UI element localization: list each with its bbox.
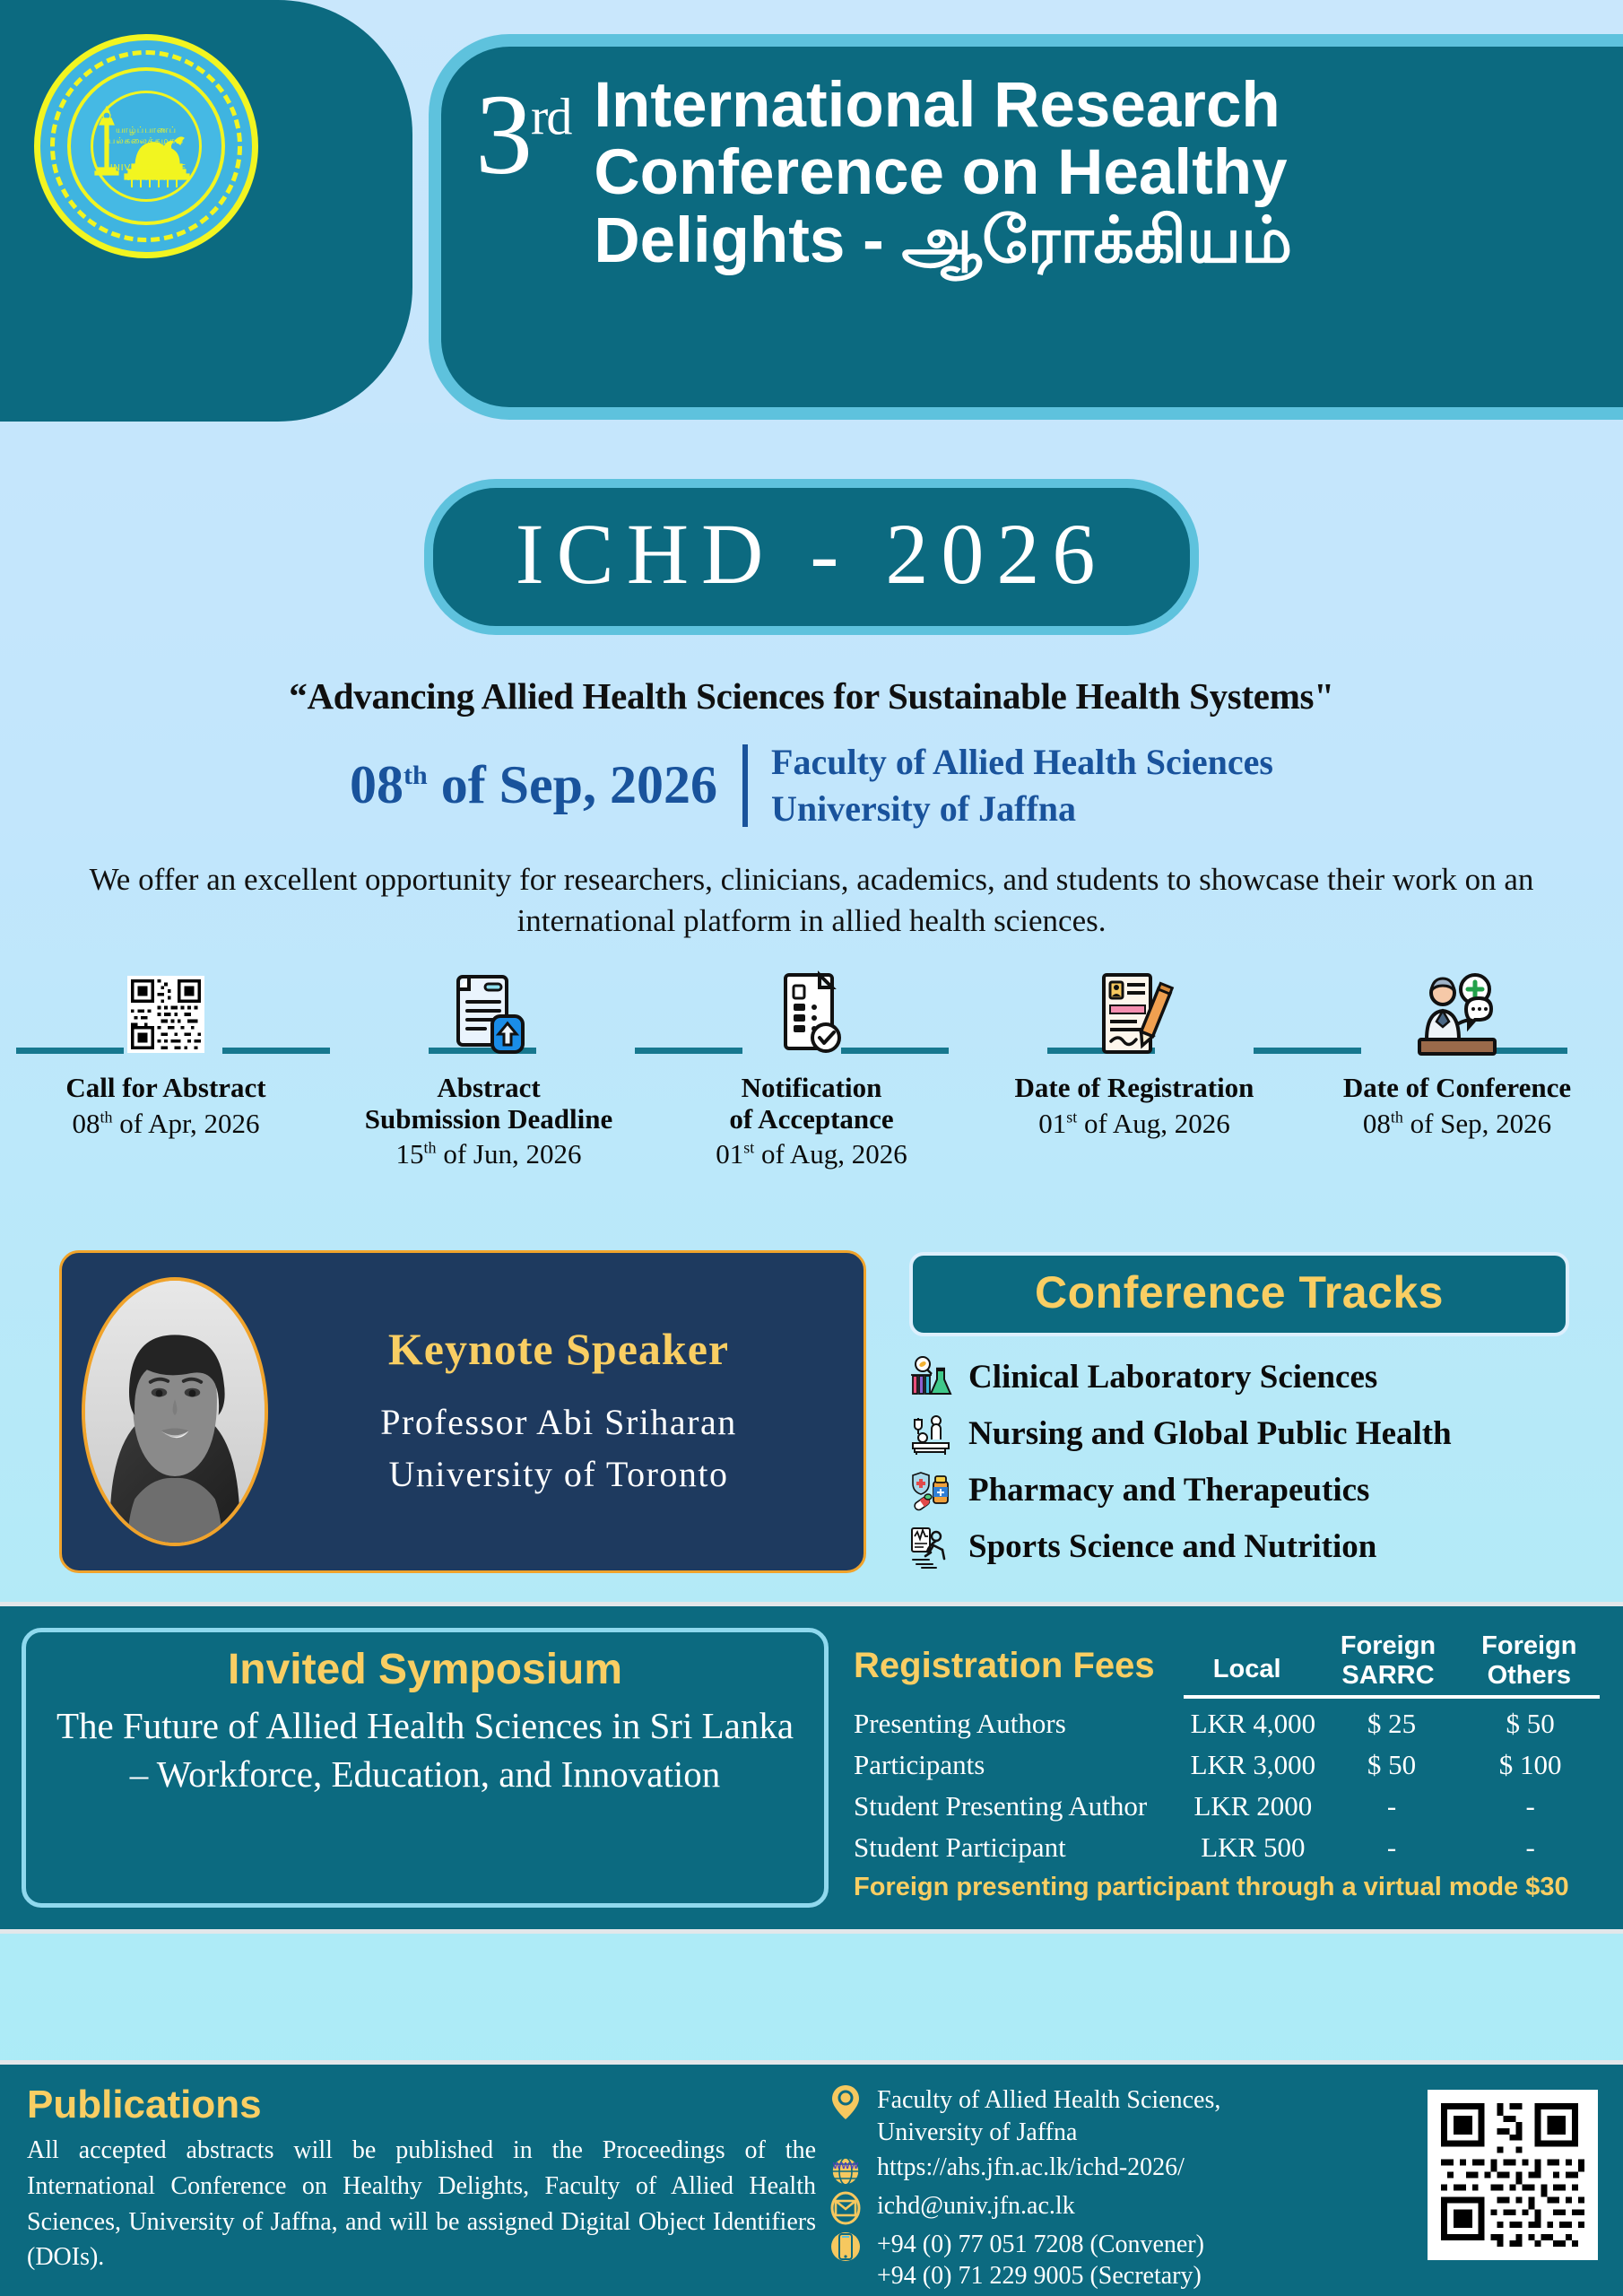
important-dates-timeline: Call for Abstract 08th of Apr, 2026	[0, 965, 1623, 1234]
university-of-jaffna-logo-icon: யாழ்ப்பாணப் பல்கலைக்கழகம்	[34, 34, 258, 258]
timeline-label: Date of Conference	[1300, 1073, 1614, 1104]
contact-phone-convener: +94 (0) 77 051 7208 (Convener)	[877, 2229, 1204, 2261]
title-line-1: International Research	[594, 72, 1292, 139]
contact-email-text[interactable]: ichd@univ.jfn.ac.lk	[877, 2190, 1075, 2222]
timeline-date-rest: of Apr, 2026	[112, 1108, 259, 1139]
keynote-speaker-photo	[82, 1277, 268, 1546]
date-venue-row: 08th of Sep, 2026 Faculty of Allied Heal…	[0, 739, 1623, 832]
conference-tracks-heading: Conference Tracks	[909, 1252, 1569, 1336]
fee-local: LKR 2000	[1184, 1790, 1323, 1822]
timeline-date-day: 15	[396, 1138, 424, 1170]
timeline-date-sup: th	[100, 1108, 112, 1126]
timeline-item-conference-date: Date of Conference 08th of Sep, 2026	[1300, 965, 1614, 1170]
keynote-speaker-card: Keynote Speaker Professor Abi Sriharan U…	[59, 1250, 866, 1573]
timeline-date: 08th of Apr, 2026	[9, 1108, 323, 1140]
track-item: Sports Science and Nutrition	[909, 1526, 1569, 1569]
timeline-date-sup: st	[1066, 1108, 1077, 1126]
conference-poster: யாழ்ப்பாணப் பல்கலைக்கழகம்	[0, 0, 1623, 2296]
fees-column-foreign-others: Foreign Others	[1459, 1631, 1600, 1692]
invited-symposium-card: Invited Symposium The Future of Allied H…	[22, 1628, 829, 1908]
contact-address-row: Faculty of Allied Health Sciences, Unive…	[829, 2084, 1415, 2149]
conference-date-rest: of Sep, 2026	[428, 755, 717, 814]
timeline-label: Call for Abstract	[9, 1073, 323, 1104]
timeline-label-line1: Notification	[655, 1073, 968, 1104]
contact-website-row[interactable]: WWW https://ahs.jfn.ac.lk/ichd-2026/	[829, 2152, 1415, 2187]
fee-sarrc: $ 50	[1323, 1749, 1462, 1781]
contact-phone-row: +94 (0) 77 051 7208 (Convener) +94 (0) 7…	[829, 2229, 1415, 2293]
timeline-label: Abstract Submission Deadline	[332, 1073, 646, 1135]
timeline-date: 01st of Aug, 2026	[977, 1108, 1291, 1140]
footer-qr-code-icon[interactable]	[1428, 2090, 1598, 2260]
publications-section: Publications All accepted abstracts will…	[27, 2083, 816, 2287]
conference-tracks-section: Conference Tracks	[909, 1250, 1569, 1582]
fee-sarrc: -	[1323, 1831, 1462, 1864]
fees-column-local: Local	[1176, 1631, 1317, 1692]
invited-symposium-topic: The Future of Allied Health Sciences in …	[46, 1701, 804, 1798]
title-line-2: Conference on Healthy	[594, 139, 1292, 206]
table-row: Presenting Authors LKR 4,000 $ 25 $ 50	[854, 1708, 1600, 1740]
keynote-speaker-name: Professor Abi Sriharan	[277, 1396, 840, 1448]
timeline-date-day: 08	[1363, 1108, 1391, 1139]
poster-footer: Publications All accepted abstracts will…	[0, 2060, 1623, 2296]
conference-date-suffix: th	[404, 761, 428, 790]
conference-theme: “Advancing Allied Health Sciences for Su…	[0, 674, 1623, 717]
fee-sarrc: $ 25	[1323, 1708, 1462, 1740]
fee-row-label: Student Participant	[854, 1831, 1184, 1864]
table-row: Student Presenting Author LKR 2000 - -	[854, 1790, 1600, 1822]
contact-details: Faculty of Allied Health Sciences, Unive…	[829, 2083, 1415, 2287]
document-check-icon	[655, 965, 968, 1064]
timeline-date-sup: th	[1391, 1108, 1403, 1126]
track-label: Sports Science and Nutrition	[968, 1527, 1376, 1566]
registration-form-icon	[977, 965, 1291, 1064]
qr-code-icon[interactable]	[9, 965, 323, 1064]
timeline-label: Notification of Acceptance	[655, 1073, 968, 1135]
fee-row-label: Participants	[854, 1749, 1184, 1781]
speaker-presentation-icon	[1300, 965, 1614, 1064]
ichd-badge: ICHD - 2026	[424, 479, 1200, 635]
contact-website-text[interactable]: https://ahs.jfn.ac.lk/ichd-2026/	[877, 2152, 1185, 2184]
fee-others: -	[1461, 1790, 1600, 1822]
track-item: Clinical Laboratory Sciences	[909, 1356, 1569, 1399]
location-pin-icon	[829, 2084, 863, 2120]
timeline-item-registration: Date of Registration 01st of Aug, 2026	[977, 965, 1291, 1170]
registration-fees-table: Registration Fees Local Foreign SARRC Fo…	[845, 1628, 1600, 1908]
intro-paragraph: We offer an excellent opportunity for re…	[31, 859, 1592, 942]
conference-date-day: 08	[350, 755, 404, 814]
edition-ordinal: 3rd	[475, 77, 570, 192]
fee-local: LKR 500	[1184, 1831, 1323, 1864]
venue-faculty: Faculty of Allied Health Sciences	[771, 739, 1273, 786]
nursing-bed-icon	[909, 1413, 952, 1456]
fee-local: LKR 3,000	[1184, 1749, 1323, 1781]
contact-address-line2: University of Jaffna	[877, 2117, 1220, 2149]
contact-address-line1: Faculty of Allied Health Sciences,	[877, 2084, 1220, 2117]
track-label: Nursing and Global Public Health	[968, 1414, 1452, 1453]
invited-symposium-title: Invited Symposium	[46, 1645, 804, 1694]
table-row: Participants LKR 3,000 $ 50 $ 100	[854, 1749, 1600, 1781]
keynote-speaker-affiliation: University of Toronto	[277, 1448, 840, 1500]
timeline-date: 15th of Jun, 2026	[332, 1138, 646, 1170]
pharmacy-bottle-icon	[909, 1469, 952, 1512]
timeline-date-day: 08	[72, 1108, 100, 1139]
fee-others: $ 100	[1461, 1749, 1600, 1781]
timeline-date-sup: th	[424, 1139, 437, 1157]
speaker-and-tracks-section: Keynote Speaker Professor Abi Sriharan U…	[0, 1250, 1623, 1582]
fees-virtual-mode-note: Foreign presenting participant through a…	[854, 1873, 1600, 1902]
timeline-date-rest: of Sep, 2026	[1403, 1108, 1551, 1139]
conference-tracks-list: Clinical Laboratory Sciences	[909, 1356, 1569, 1569]
ichd-badge-text: ICHD - 2026	[516, 506, 1108, 603]
timeline-date-sup: st	[743, 1139, 754, 1157]
timeline-item-abstract-submission: Abstract Submission Deadline 15th of Jun…	[332, 965, 646, 1170]
venue-university: University of Jaffna	[771, 786, 1273, 832]
timeline-item-notification-acceptance: Notification of Acceptance 01st of Aug, …	[655, 965, 968, 1170]
table-row: Student Participant LKR 500 - -	[854, 1831, 1600, 1864]
timeline-date: 01st of Aug, 2026	[655, 1138, 968, 1170]
timeline-item-call-for-abstract: Call for Abstract 08th of Apr, 2026	[9, 965, 323, 1170]
timeline-date: 08th of Sep, 2026	[1300, 1108, 1614, 1140]
contact-phone-text: +94 (0) 77 051 7208 (Convener) +94 (0) 7…	[877, 2229, 1204, 2293]
fee-others: -	[1461, 1831, 1600, 1864]
timeline-date-rest: of Jun, 2026	[437, 1138, 582, 1170]
fee-row-label: Student Presenting Author	[854, 1790, 1184, 1822]
publications-body: All accepted abstracts will be published…	[27, 2133, 816, 2275]
fee-row-label: Presenting Authors	[854, 1708, 1184, 1740]
contact-email-row[interactable]: ichd@univ.jfn.ac.lk	[829, 2190, 1415, 2226]
fee-others: $ 50	[1461, 1708, 1600, 1740]
track-item: Nursing and Global Public Health	[909, 1413, 1569, 1456]
envelope-icon	[829, 2190, 863, 2226]
conference-date: 08th of Sep, 2026	[350, 754, 742, 816]
fee-local: LKR 4,000	[1184, 1708, 1323, 1740]
mobile-phone-icon	[829, 2229, 863, 2265]
svg-text:WWW: WWW	[833, 2161, 859, 2171]
timeline-date-rest: of Aug, 2026	[754, 1138, 907, 1170]
timeline-date-day: 01	[1038, 1108, 1066, 1139]
symposium-and-fees-band: Invited Symposium The Future of Allied H…	[0, 1602, 1623, 1934]
track-label: Pharmacy and Therapeutics	[968, 1471, 1369, 1509]
edition-suffix: rd	[531, 87, 570, 145]
venue: Faculty of Allied Health Sciences Univer…	[748, 739, 1273, 832]
fees-header-rule	[1184, 1695, 1600, 1699]
document-upload-icon	[332, 965, 646, 1064]
logo-bottom-text: UNIVERSITY OF JAFFNA	[93, 163, 199, 183]
timeline-date-day: 01	[716, 1138, 743, 1170]
keynote-speaker-heading: Keynote Speaker	[277, 1323, 840, 1375]
timeline-label-line2: Submission Deadline	[332, 1104, 646, 1135]
poster-header: யாழ்ப்பாணப் பல்கலைக்கழகம்	[0, 0, 1623, 423]
keynote-speaker-details: Professor Abi Sriharan University of Tor…	[277, 1396, 840, 1500]
laboratory-flask-icon	[909, 1356, 952, 1399]
contact-phone-secretary: +94 (0) 71 229 9005 (Secretary)	[877, 2260, 1204, 2292]
fees-column-foreign-sarrc: Foreign SARRC	[1317, 1631, 1458, 1692]
fee-sarrc: -	[1323, 1790, 1462, 1822]
conference-title: International Research Conference on Hea…	[594, 72, 1292, 274]
title-line-3: Delights - ஆரோக்கியம்	[594, 207, 1292, 274]
timeline-label: Date of Registration	[977, 1073, 1291, 1104]
timeline-date-rest: of Aug, 2026	[1077, 1108, 1230, 1139]
fees-column-headers: Local Foreign SARRC Foreign Others	[1176, 1631, 1600, 1692]
timeline-label-line2: of Acceptance	[655, 1104, 968, 1135]
sports-runner-icon	[909, 1526, 952, 1569]
acronym-badge-wrap: ICHD - 2026	[0, 479, 1623, 635]
timeline-label-line1: Abstract	[332, 1073, 646, 1104]
globe-www-icon: WWW	[829, 2152, 863, 2187]
track-item: Pharmacy and Therapeutics	[909, 1469, 1569, 1512]
contact-address-text: Faculty of Allied Health Sciences, Unive…	[877, 2084, 1220, 2149]
publications-title: Publications	[27, 2083, 816, 2127]
edition-number: 3	[475, 71, 531, 198]
track-label: Clinical Laboratory Sciences	[968, 1358, 1377, 1396]
registration-fees-title: Registration Fees	[854, 1631, 1176, 1686]
